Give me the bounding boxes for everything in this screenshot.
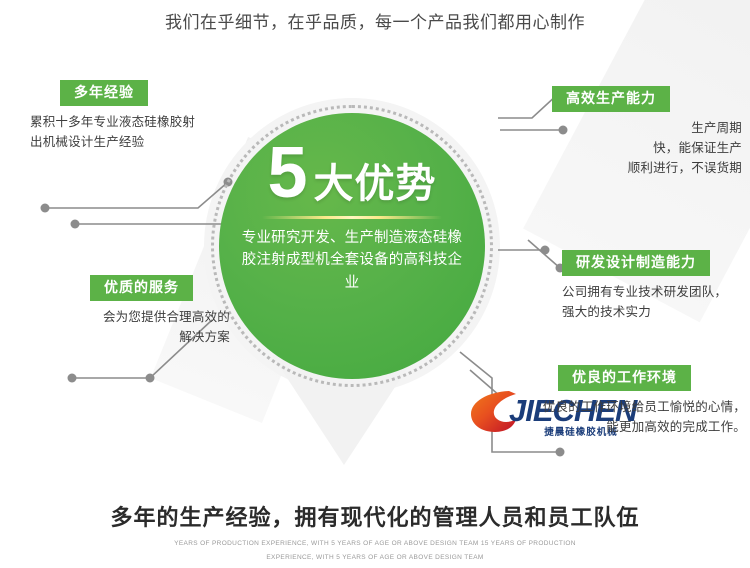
circle-body: 5 大优势 专业研究开发、生产制造液态硅橡胶注射成型机全套设备的高科技企业: [219, 113, 485, 379]
feature-service: 优质的服务 会为您提供合理高效的 解决方案: [30, 275, 230, 347]
feature-rnd-tag-row: 研发设计制造能力: [562, 250, 750, 276]
gold-divider: [262, 216, 442, 219]
feature-capacity: 高效生产能力 生产周期 快，能保证生产 顺利进行，不误货期: [552, 86, 742, 178]
feature-rnd-body: 公司拥有专业技术研发团队， 强大的技术实力: [562, 282, 750, 322]
footer-headline: 多年的生产经验，拥有现代化的管理人员和员工队伍: [0, 500, 750, 532]
feature-environment: 优良的工作环境 优良的工作环境给员工愉悦的心情， 能更加高效的完成工作。: [478, 365, 746, 437]
feature-experience-tag: 多年经验: [60, 80, 148, 106]
feature-capacity-tag-row: 高效生产能力: [552, 86, 742, 112]
advantage-word: 大优势: [314, 164, 437, 204]
circle-description: 专业研究开发、生产制造液态硅橡胶注射成型机全套设备的高科技企业: [240, 227, 464, 294]
feature-service-tag-row: 优质的服务: [30, 275, 230, 301]
feature-experience-tag-row: 多年经验: [30, 80, 250, 106]
advantage-count: 5: [267, 137, 305, 209]
feature-environment-tag-row: 优良的工作环境: [478, 365, 746, 391]
feature-rnd-tag: 研发设计制造能力: [562, 250, 710, 276]
infographic-canvas: 我们在乎细节，在乎品质，每一个产品我们都用心制作: [0, 0, 750, 568]
footer-subline-1: YEARS OF PRODUCTION EXPERIENCE, WITH 5 Y…: [0, 540, 750, 547]
feature-experience-body: 累积十多年专业液态硅橡胶射 出机械设计生产经验: [30, 112, 250, 152]
central-circle: 5 大优势 专业研究开发、生产制造液态硅橡胶注射成型机全套设备的高科技企业: [211, 105, 493, 387]
feature-rnd: 研发设计制造能力 公司拥有专业技术研发团队， 强大的技术实力: [562, 250, 750, 322]
feature-service-tag: 优质的服务: [90, 275, 193, 301]
feature-capacity-tag: 高效生产能力: [552, 86, 670, 112]
feature-experience: 多年经验 累积十多年专业液态硅橡胶射 出机械设计生产经验: [30, 80, 250, 152]
page-headline: 我们在乎细节，在乎品质，每一个产品我们都用心制作: [0, 8, 750, 33]
feature-capacity-body: 生产周期 快，能保证生产 顺利进行，不误货期: [552, 118, 742, 178]
feature-service-body: 会为您提供合理高效的 解决方案: [30, 307, 230, 347]
circle-title: 5 大优势: [267, 137, 436, 209]
feature-environment-body: 优良的工作环境给员工愉悦的心情， 能更加高效的完成工作。: [478, 397, 746, 437]
feature-environment-tag: 优良的工作环境: [558, 365, 691, 391]
footer-subline-2: EXPERIENCE, WITH 5 YEARS OF AGE OR ABOVE…: [0, 554, 750, 561]
